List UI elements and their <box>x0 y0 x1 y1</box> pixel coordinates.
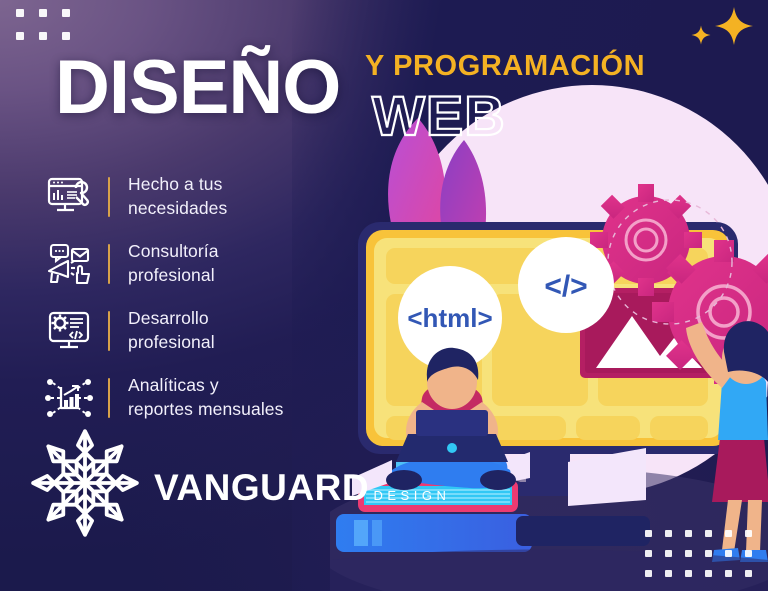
feature-list: Hecho a tus necesidades <box>38 163 358 431</box>
snowflake-star-icon <box>26 424 144 547</box>
feature-item-needs: Hecho a tus necesidades <box>38 163 358 230</box>
brand-logo: VANGUARD DESIGN <box>26 424 450 547</box>
megaphone-marketing-icon <box>38 243 100 285</box>
feature-label-line1: Desarrollo <box>128 308 209 328</box>
feature-label-line2: reportes mensuales <box>128 399 284 419</box>
feature-label: Hecho a tus necesidades <box>128 173 227 220</box>
feature-label-line2: profesional <box>128 332 215 352</box>
bubble-code-label: </> <box>544 270 587 303</box>
feature-item-consulting: Consultoría profesional <box>38 230 358 297</box>
headline-outlined: WEB <box>372 83 506 148</box>
analytics-network-icon <box>38 376 100 420</box>
feature-label-line1: Consultoría <box>128 241 219 261</box>
feature-label: Desarrollo profesional <box>128 307 215 354</box>
feature-label-line1: Analíticas y <box>128 375 219 395</box>
feature-label: Consultoría profesional <box>128 240 219 287</box>
headline-primary: DISEÑO <box>55 52 340 125</box>
monitor-code-gear-icon <box>38 310 100 352</box>
feature-label-line2: necesidades <box>128 198 227 218</box>
bubble-html-label: <html> <box>407 303 492 333</box>
feature-divider <box>108 177 110 217</box>
feature-divider <box>108 311 110 351</box>
feature-label: Analíticas y reportes mensuales <box>128 374 284 421</box>
brand-name: VANGUARD <box>154 467 369 508</box>
feature-divider <box>108 244 110 284</box>
feature-label-line1: Hecho a tus <box>128 174 223 194</box>
dot-grid-top-left-icon <box>16 9 70 40</box>
poster: <html> </> <box>0 0 768 591</box>
bubble-code: </> <box>518 237 614 333</box>
feature-item-development: Desarrollo profesional <box>38 297 358 364</box>
headline-secondary: Y PROGRAMACIÓN <box>365 50 645 83</box>
brand-wordmark: VANGUARD DESIGN <box>154 465 450 506</box>
dot-grid-bottom-right-icon <box>645 530 752 577</box>
brand-tagline: DESIGN <box>374 488 451 503</box>
feature-item-analytics: Analíticas y reportes mensuales <box>38 364 358 431</box>
monitor-wrench-icon <box>38 176 100 218</box>
feature-label-line2: profesional <box>128 265 215 285</box>
feature-divider <box>108 378 110 418</box>
